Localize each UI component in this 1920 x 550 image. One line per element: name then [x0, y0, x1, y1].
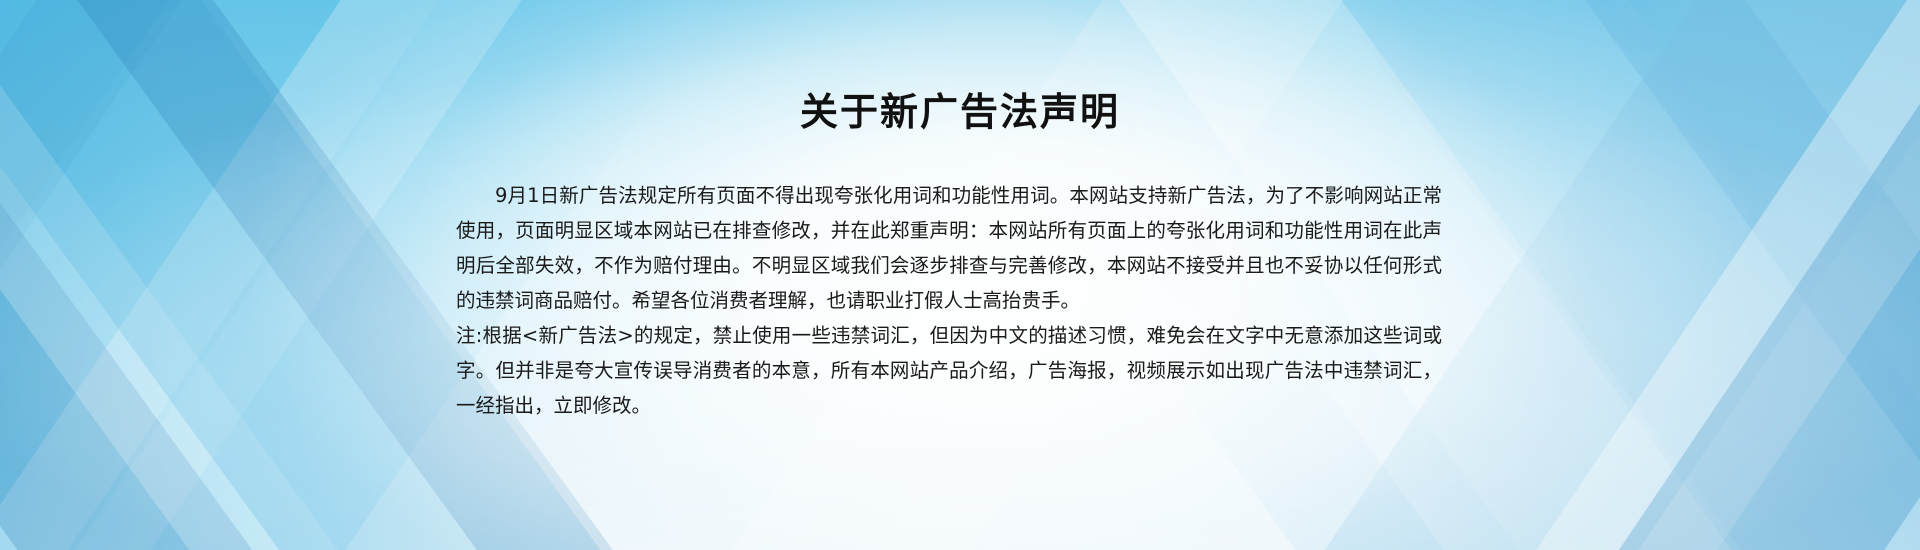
statement-body: 9月1日新广告法规定所有页面不得出现夸张化用词和功能性用词。本网站支持新广告法，…	[456, 178, 1442, 423]
banner-content: 关于新广告法声明 9月1日新广告法规定所有页面不得出现夸张化用词和功能性用词。本…	[0, 0, 1920, 550]
page-title: 关于新广告法声明	[0, 88, 1920, 136]
note-paragraph: 注:根据<新广告法>的规定，禁止使用一些违禁词汇，但因为中文的描述习惯，难免会在…	[456, 318, 1442, 423]
advertising-law-statement-banner: 关于新广告法声明 9月1日新广告法规定所有页面不得出现夸张化用词和功能性用词。本…	[0, 0, 1920, 550]
statement-paragraph: 9月1日新广告法规定所有页面不得出现夸张化用词和功能性用词。本网站支持新广告法，…	[456, 178, 1442, 318]
